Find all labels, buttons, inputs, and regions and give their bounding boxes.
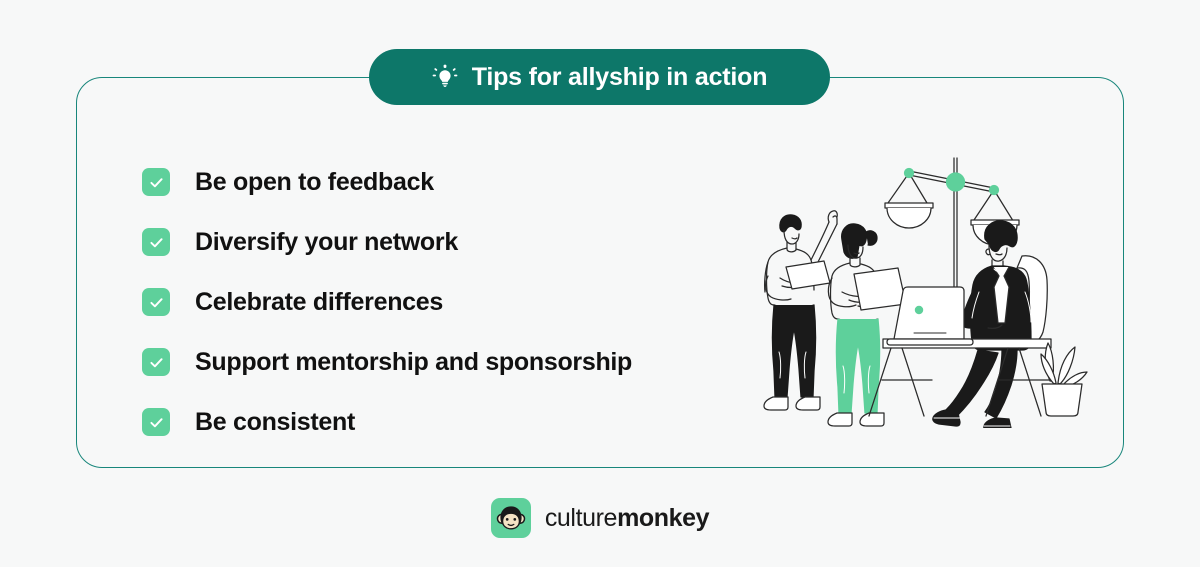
list-item: Celebrate differences bbox=[142, 272, 722, 332]
list-item: Be open to feedback bbox=[142, 152, 722, 212]
list-item: Be consistent bbox=[142, 392, 722, 452]
check-icon bbox=[142, 228, 170, 256]
list-item: Diversify your network bbox=[142, 212, 722, 272]
lightbulb-icon bbox=[432, 64, 458, 90]
list-item-label: Support mentorship and sponsorship bbox=[195, 348, 632, 377]
header-badge: Tips for allyship in action bbox=[369, 49, 830, 105]
check-icon bbox=[142, 408, 170, 436]
list-item-label: Be consistent bbox=[195, 408, 355, 437]
brand-wordmark: culturemonkey bbox=[545, 504, 709, 533]
list-item-label: Be open to feedback bbox=[195, 168, 434, 197]
list-item-label: Diversify your network bbox=[195, 228, 458, 257]
brand-name-bold: monkey bbox=[617, 504, 709, 532]
workplace-allyship-illustration bbox=[742, 152, 1090, 428]
list-item: Support mentorship and sponsorship bbox=[142, 332, 722, 392]
monkey-face-icon bbox=[491, 498, 531, 538]
tips-checklist: Be open to feedback Diversify your netwo… bbox=[142, 152, 722, 452]
infographic-root: Tips for allyship in action Be open to f… bbox=[0, 0, 1200, 567]
header-title: Tips for allyship in action bbox=[472, 63, 768, 92]
list-item-label: Celebrate differences bbox=[195, 288, 443, 317]
brand-name-light: culture bbox=[545, 504, 617, 532]
check-icon bbox=[142, 348, 170, 376]
brand-footer: culturemonkey bbox=[0, 498, 1200, 538]
check-icon bbox=[142, 288, 170, 316]
check-icon bbox=[142, 168, 170, 196]
